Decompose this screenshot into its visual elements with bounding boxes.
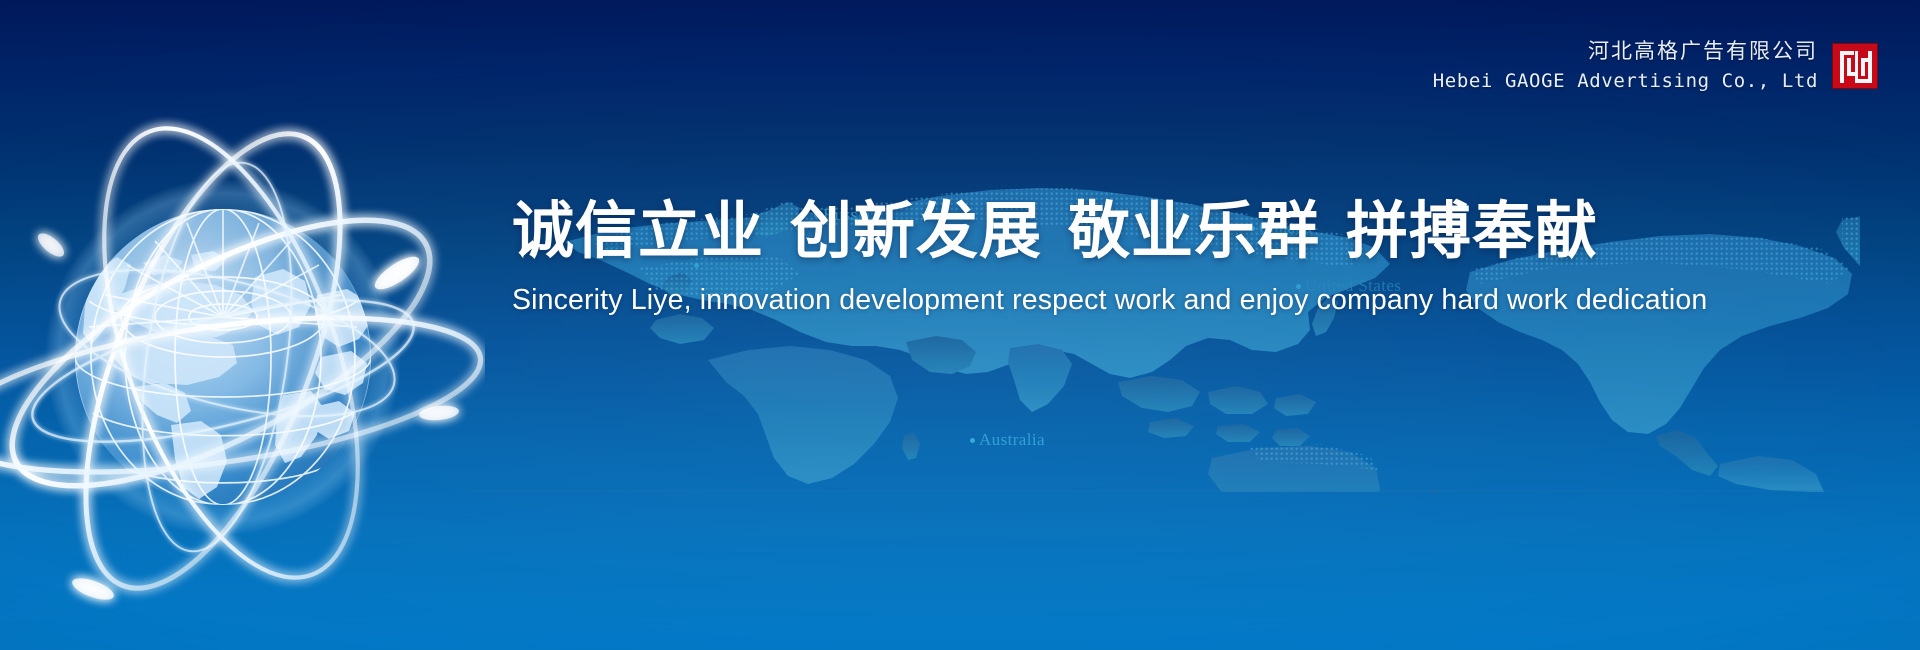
map-marker-dot	[970, 438, 975, 443]
company-name-group: 河北高格广告有限公司 Hebei GAOGE Advertising Co., …	[1433, 38, 1818, 94]
globe-with-orbit-rings-icon	[0, 95, 485, 625]
slogan-chinese: 诚信立业创新发展敬业乐群拼搏奉献	[512, 200, 1812, 262]
company-slogan-banner: Russia Europe China Canada United States…	[0, 0, 1920, 650]
slogan-block: 诚信立业创新发展敬业乐群拼搏奉献 Sincerity Liye, innovat…	[512, 200, 1812, 317]
company-name-english: Hebei GAOGE Advertising Co., Ltd	[1433, 69, 1818, 94]
slogan-part-3: 敬业乐群	[1068, 194, 1320, 267]
company-name-chinese: 河北高格广告有限公司	[1433, 38, 1818, 66]
slogan-part-4: 拼搏奉献	[1346, 194, 1598, 267]
slogan-part-2: 创新发展	[790, 194, 1042, 267]
vignette-overlay	[0, 0, 1920, 650]
gaoge-logo	[1832, 43, 1878, 89]
slogan-english: Sincerity Liye, innovation development r…	[512, 284, 1812, 317]
map-label-australia: Australia	[970, 430, 1045, 450]
company-identity-block: 河北高格广告有限公司 Hebei GAOGE Advertising Co., …	[1433, 38, 1878, 94]
slogan-part-1: 诚信立业	[512, 194, 764, 267]
